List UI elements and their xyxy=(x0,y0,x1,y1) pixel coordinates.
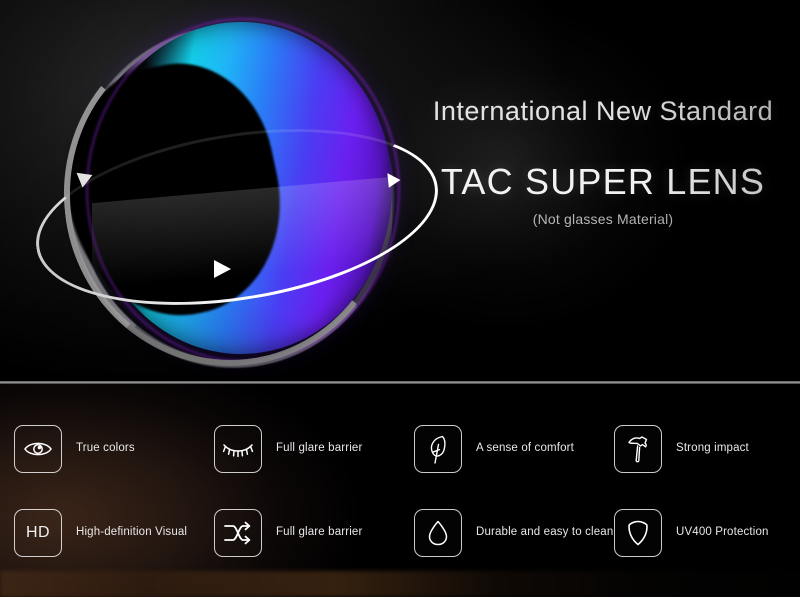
feature-label: True colors xyxy=(76,441,135,455)
hero-headline: International New Standard xyxy=(418,96,788,127)
features-section: True colors Full glare bar xyxy=(0,384,800,597)
feature-item-hd: HD High-definition Visual xyxy=(0,491,200,575)
feature-item-glare-barrier-2: Full glare barrier xyxy=(200,491,400,575)
hammer-icon xyxy=(614,425,662,473)
feature-label: Strong impact xyxy=(676,441,749,455)
features-grid: True colors Full glare bar xyxy=(0,384,800,597)
feature-item-strong-impact: Strong impact xyxy=(600,407,800,491)
feature-item-uv400: UV400 Protection xyxy=(600,491,800,575)
eye-icon xyxy=(14,425,62,473)
hero-title: TAC SUPER LENS xyxy=(418,161,788,203)
hd-icon-text: HD xyxy=(26,524,50,542)
shuffle-icon xyxy=(214,509,262,557)
hero-subtitle: (Not glasses Material) xyxy=(418,211,788,227)
droplet-icon xyxy=(414,509,462,557)
closed-eye-icon xyxy=(214,425,262,473)
feature-label: Full glare barrier xyxy=(276,525,362,539)
hero-copy: International New Standard TAC SUPER LEN… xyxy=(418,96,788,227)
feature-label: UV400 Protection xyxy=(676,525,769,539)
feature-item-comfort: A sense of comfort xyxy=(400,407,600,491)
feature-item-easy-clean: Durable and easy to clean xyxy=(400,491,600,575)
feature-label: Durable and easy to clean xyxy=(476,525,613,539)
feature-label: Full glare barrier xyxy=(276,441,362,455)
hd-icon: HD xyxy=(14,509,62,557)
feature-item-glare-barrier-1: Full glare barrier xyxy=(200,407,400,491)
shield-icon xyxy=(614,509,662,557)
lens-graphic xyxy=(62,14,412,364)
feature-label: High-definition Visual xyxy=(76,525,187,539)
hero-section: International New Standard TAC SUPER LEN… xyxy=(0,0,800,382)
promo-banner: International New Standard TAC SUPER LEN… xyxy=(0,0,800,597)
orbit-arrow-center-icon xyxy=(214,260,231,278)
feature-label: A sense of comfort xyxy=(476,441,574,455)
feature-item-true-colors: True colors xyxy=(0,407,200,491)
feather-icon xyxy=(414,425,462,473)
